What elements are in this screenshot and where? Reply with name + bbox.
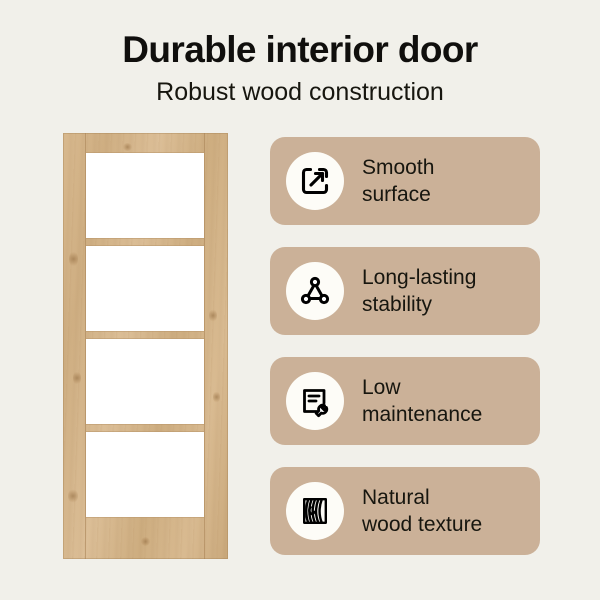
feature-card-list: Smooth surface Long-lasting stability — [270, 137, 540, 555]
wood-knot — [209, 309, 217, 322]
door-product-image — [63, 133, 228, 559]
wood-knot — [69, 251, 78, 267]
door-glass-panel-3 — [86, 339, 204, 424]
door-glass-panel-4 — [86, 432, 204, 517]
feature-label: Smooth surface — [362, 154, 434, 209]
stile-seam-right — [204, 133, 205, 559]
feature-label: Long-lasting stability — [362, 264, 476, 319]
document-wrench-icon — [286, 372, 344, 430]
wood-knot — [123, 143, 132, 151]
triangle-nodes-icon — [286, 262, 344, 320]
feature-label: Natural wood texture — [362, 484, 482, 539]
product-feature-infographic: Durable interior door Robust wood constr… — [0, 0, 600, 600]
feature-card-low-maintenance[interactable]: Low maintenance — [270, 357, 540, 445]
door-glass-panel-1 — [86, 153, 204, 238]
wood-knot — [213, 391, 220, 403]
door-slab — [63, 133, 228, 559]
wood-knot — [73, 371, 81, 385]
expand-arrow-icon — [286, 152, 344, 210]
page-title: Durable interior door — [0, 30, 600, 71]
feature-label: Low maintenance — [362, 374, 482, 429]
feature-card-natural-wood-texture[interactable]: Natural wood texture — [270, 467, 540, 555]
door-glass-panel-2 — [86, 246, 204, 331]
page-subtitle: Robust wood construction — [0, 78, 600, 107]
wood-knot — [141, 537, 150, 546]
feature-card-long-lasting-stability[interactable]: Long-lasting stability — [270, 247, 540, 335]
wood-knot — [68, 489, 78, 503]
feature-card-smooth-surface[interactable]: Smooth surface — [270, 137, 540, 225]
header: Durable interior door Robust wood constr… — [0, 30, 600, 106]
wood-grain-icon — [286, 482, 344, 540]
